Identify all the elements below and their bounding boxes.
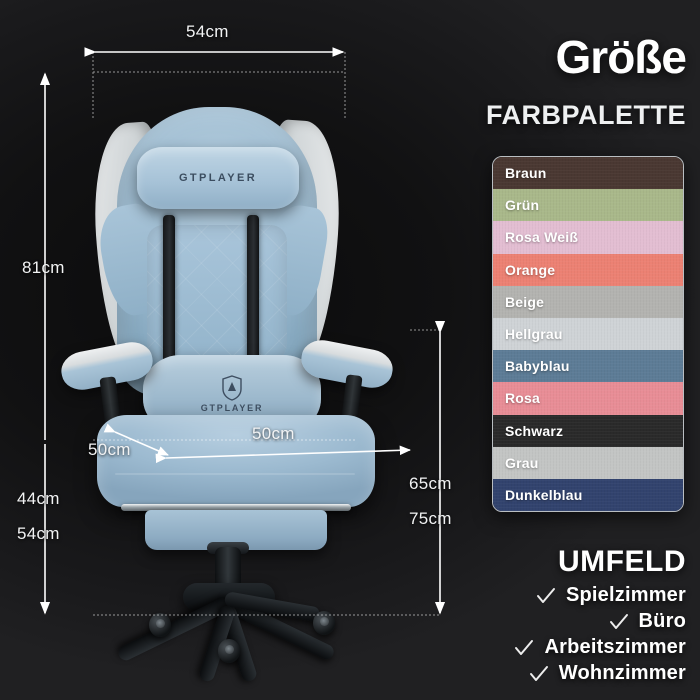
check-icon [609, 613, 629, 631]
color-swatch-label: Schwarz [505, 423, 563, 439]
caster-left-hub [156, 619, 165, 628]
color-swatch[interactable]: Schwarz [493, 415, 683, 447]
umfeld-item: Büro [474, 610, 686, 633]
page-title-groesse: Größe [556, 30, 686, 84]
color-swatch[interactable]: Grau [493, 447, 683, 479]
color-swatch-label: Braun [505, 165, 546, 181]
umfeld-item: Wohnzimmer [474, 662, 686, 685]
check-icon [529, 665, 549, 683]
umfeld-item-label: Arbeitszimmer [544, 636, 686, 659]
caster-center-hub [225, 645, 234, 654]
check-icon [536, 587, 556, 605]
umfeld-list: SpielzimmerBüroArbeitszimmerWohnzimmer [474, 584, 686, 688]
color-swatch-label: Dunkelblau [505, 487, 582, 503]
color-swatch[interactable]: Babyblau [493, 350, 683, 382]
dimension-label-54cm-top: 54cm [186, 22, 229, 42]
color-swatch-label: Grau [505, 455, 538, 471]
color-swatch[interactable]: Rosa Weiß [493, 221, 683, 253]
dimension-label-75cm: 75cm [409, 509, 452, 529]
color-swatch-label: Orange [505, 262, 555, 278]
color-swatch[interactable]: Dunkelblau [493, 479, 683, 511]
headrest-brand-text: GTPLAYER [179, 172, 257, 184]
lumbar-brand-text: GTPLAYER [201, 403, 264, 413]
color-swatch[interactable]: Beige [493, 286, 683, 318]
dimension-label-54cm-seat: 54cm [17, 524, 60, 544]
umfeld-item-label: Büro [639, 610, 686, 633]
color-swatch[interactable]: Hellgrau [493, 318, 683, 350]
section-title-umfeld: UMFELD [558, 545, 686, 579]
umfeld-item-label: Spielzimmer [566, 584, 686, 607]
seat-cushion [97, 415, 375, 507]
color-swatch-label: Babyblau [505, 358, 570, 374]
check-icon [514, 639, 534, 657]
right-info-panel: Größe FARBPALETTE BraunGrünRosa WeißOran… [470, 0, 700, 700]
ace-shield-logo-icon [221, 375, 243, 401]
dimension-label-44cm: 44cm [17, 489, 60, 509]
seat-crease [115, 473, 355, 475]
color-swatch-label: Rosa [505, 390, 540, 406]
headrest-pillow: GTPLAYER [137, 147, 299, 209]
color-swatch[interactable]: Braun [493, 157, 683, 189]
dimension-label-65cm: 65cm [409, 474, 452, 494]
umfeld-item: Spielzimmer [474, 584, 686, 607]
color-swatch[interactable]: Orange [493, 254, 683, 286]
dimension-label-50cm-diagonal: 50cm [88, 440, 131, 460]
color-swatch-label: Beige [505, 294, 544, 310]
gaming-chair-image: GTPLAYER GTPLAYER [55, 55, 415, 625]
color-swatch-label: Grün [505, 197, 539, 213]
umfeld-item-label: Wohnzimmer [559, 662, 686, 685]
umfeld-item: Arbeitszimmer [474, 636, 686, 659]
backrest-strap-right [247, 215, 259, 363]
backrest-strap-left [163, 215, 175, 363]
dimension-label-81cm: 81cm [22, 258, 65, 278]
color-palette: BraunGrünRosa WeißOrangeBeigeHellgrauBab… [492, 156, 684, 512]
color-swatch-label: Rosa Weiß [505, 229, 578, 245]
color-swatch[interactable]: Grün [493, 189, 683, 221]
section-title-farbpalette: FARBPALETTE [486, 100, 686, 131]
product-infographic: GTPLAYER GTPLAYER [0, 0, 700, 700]
color-swatch-label: Hellgrau [505, 326, 563, 342]
caster-right-hub [320, 617, 329, 626]
color-swatch[interactable]: Rosa [493, 382, 683, 414]
dimension-label-50cm-seat: 50cm [252, 424, 295, 444]
